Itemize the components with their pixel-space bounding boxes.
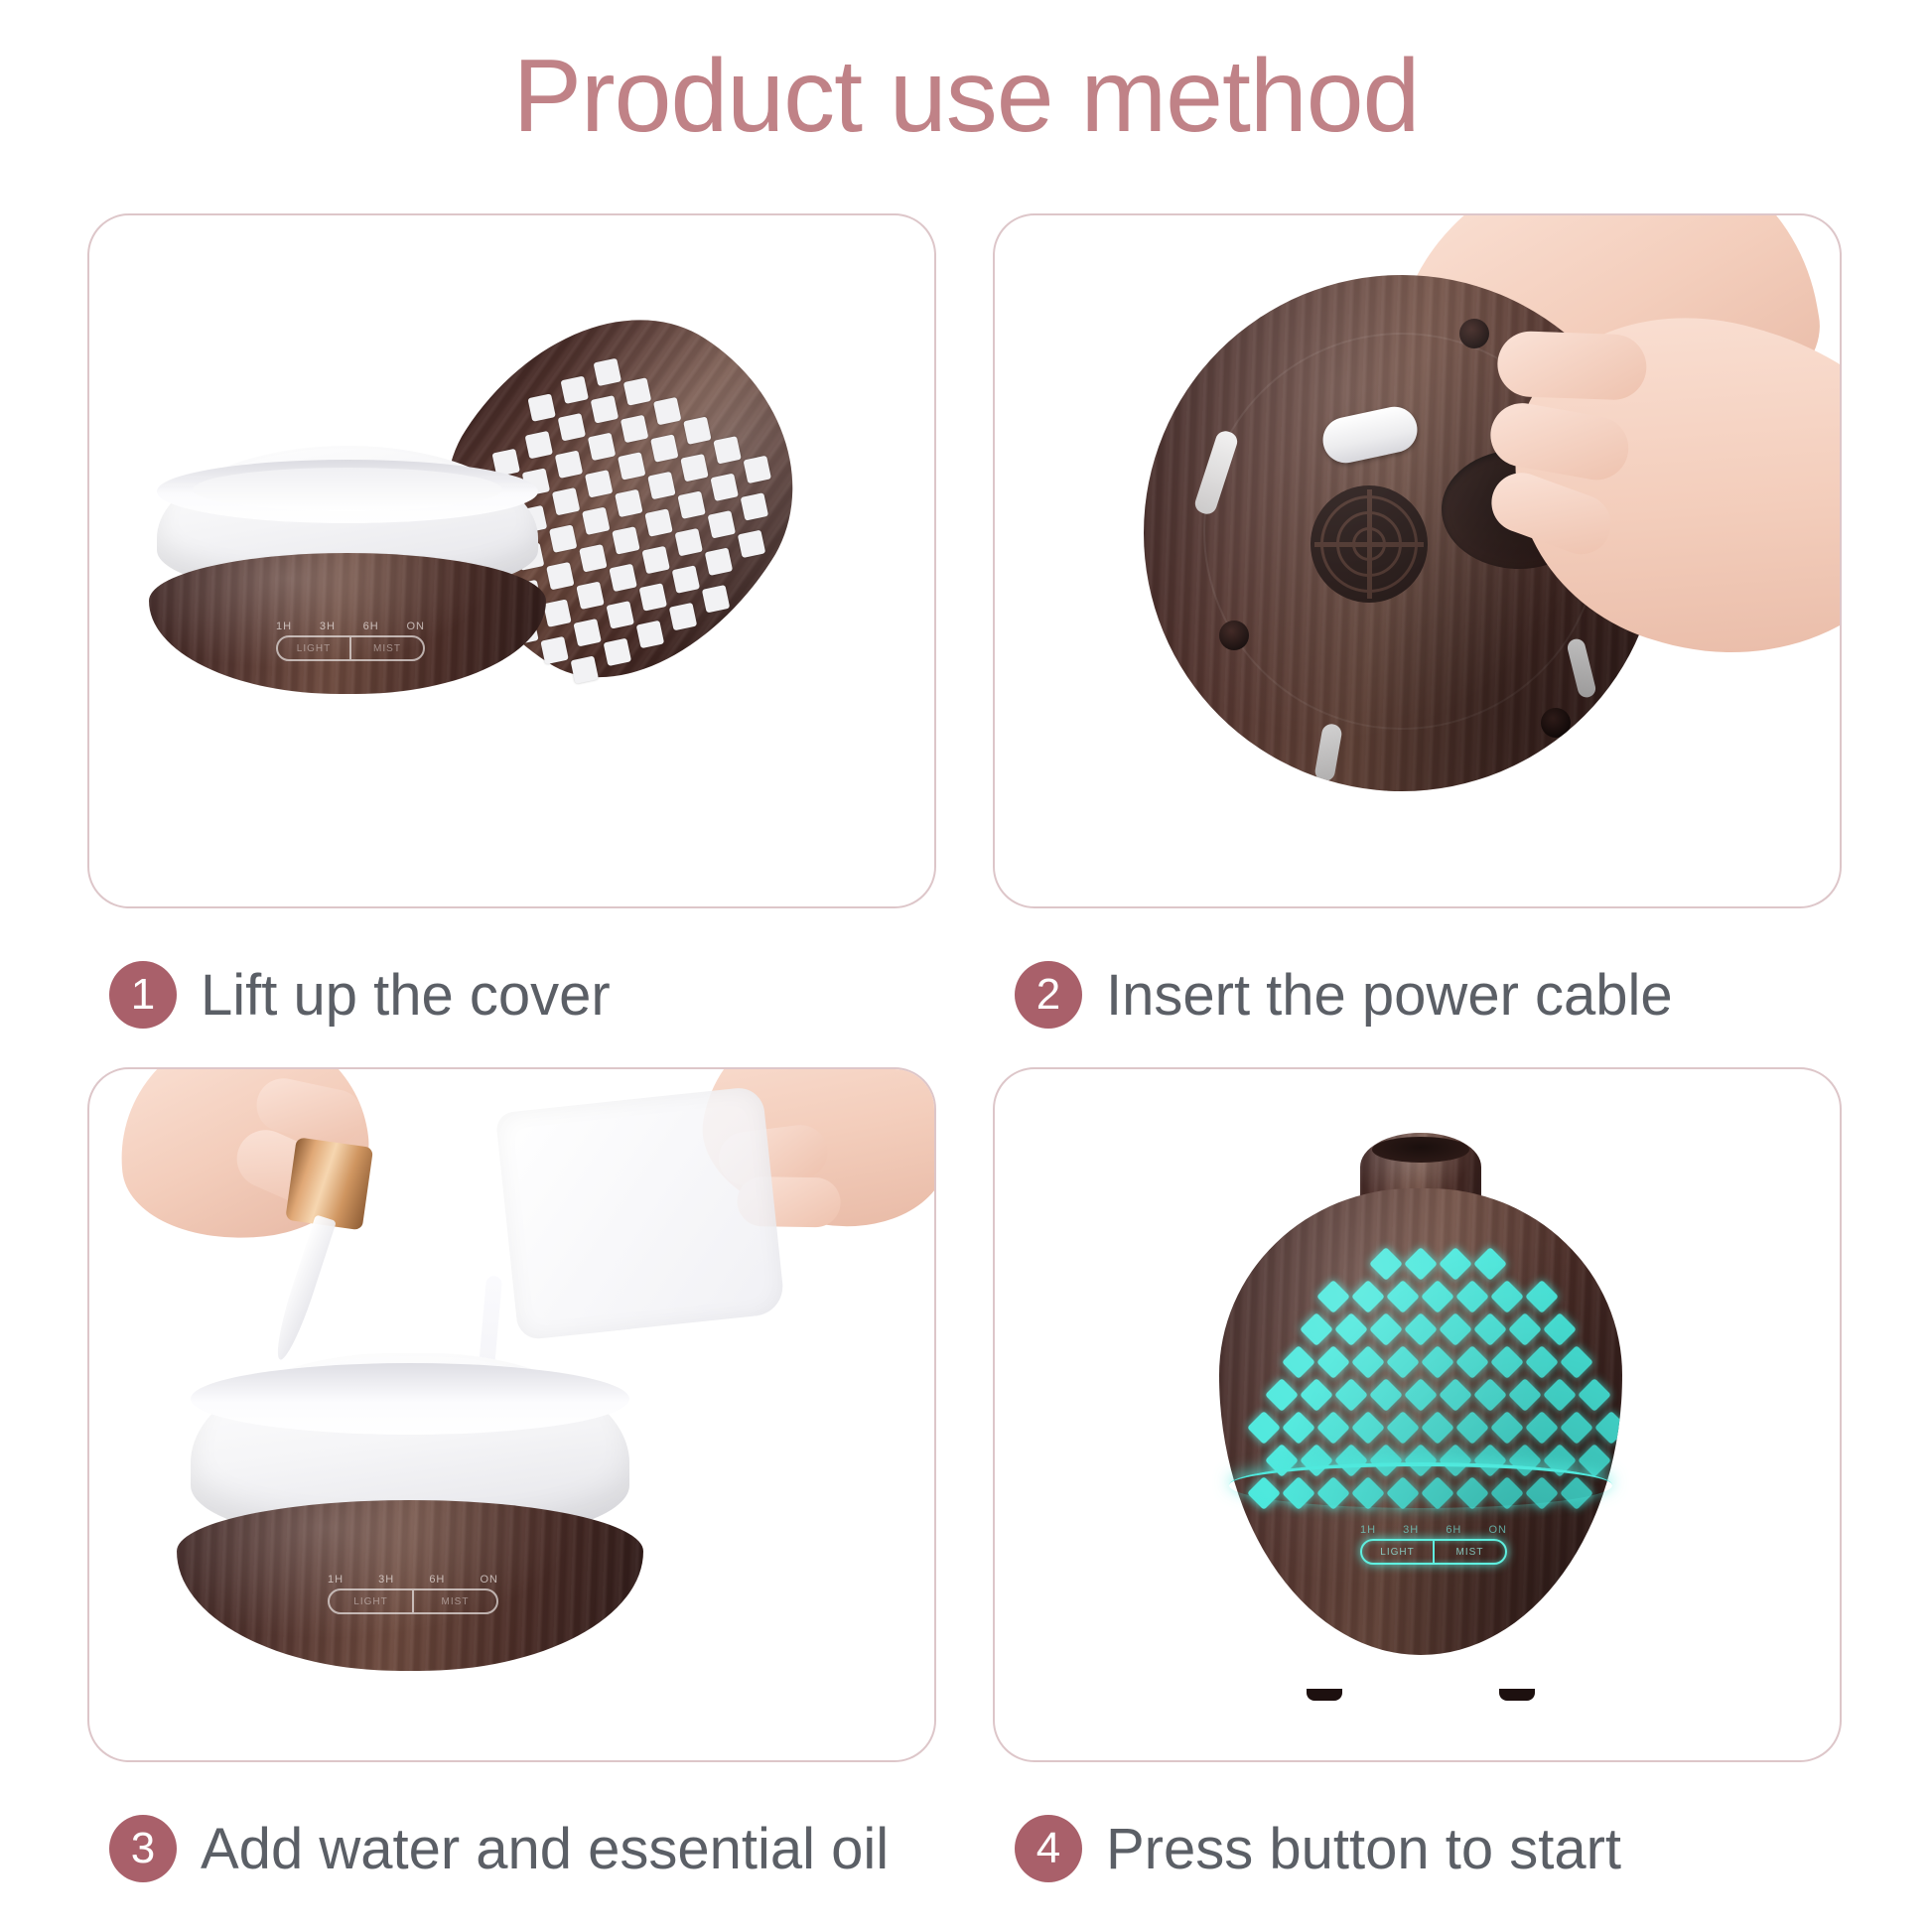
step-1: 1H 3H 6H ON LIGHT MIST 1 Lift up the cov bbox=[87, 213, 936, 1039]
cutout-diamond bbox=[1386, 1411, 1420, 1445]
cutout-diamond bbox=[606, 601, 633, 628]
timer-labels: 1H 3H 6H ON bbox=[276, 621, 425, 632]
cutout-diamond bbox=[558, 413, 586, 441]
step-3-caption: 3 Add water and essential oil bbox=[87, 1804, 936, 1893]
timer-label-1h: 1H bbox=[328, 1574, 344, 1586]
cutout-diamond bbox=[1351, 1345, 1385, 1379]
mist-button[interactable]: MIST bbox=[1433, 1541, 1505, 1563]
cutout-diamond bbox=[546, 562, 574, 590]
dropper-glass-tube bbox=[270, 1214, 337, 1362]
panel-buttons: LIGHT MIST bbox=[328, 1588, 498, 1614]
cutout-diamond bbox=[1490, 1345, 1524, 1379]
cutout-diamond bbox=[1351, 1280, 1385, 1313]
light-button[interactable]: LIGHT bbox=[330, 1590, 412, 1612]
step-3-caption-text: Add water and essential oil bbox=[201, 1816, 889, 1882]
step-4-caption-text: Press button to start bbox=[1106, 1816, 1621, 1882]
rubber-foot bbox=[1192, 429, 1239, 517]
cutout-diamond bbox=[1404, 1247, 1438, 1281]
mist-button[interactable]: MIST bbox=[349, 637, 423, 659]
rubber-foot bbox=[1566, 637, 1597, 700]
cutout-diamond bbox=[623, 377, 651, 405]
cutout-diamond bbox=[1508, 1378, 1542, 1412]
cutout-diamond bbox=[680, 454, 708, 482]
cutout-diamond bbox=[609, 564, 636, 592]
cutout-diamond bbox=[585, 470, 613, 497]
cutout-diamond bbox=[555, 450, 583, 478]
cutout-diamond bbox=[1247, 1411, 1281, 1445]
base-foot bbox=[477, 686, 510, 694]
cutout-diamond bbox=[1508, 1312, 1542, 1346]
step-2: 2 Insert the power cable bbox=[993, 213, 1842, 1039]
cutout-diamond bbox=[677, 490, 705, 518]
water-pitcher bbox=[495, 1086, 786, 1341]
step-2-image-card bbox=[993, 213, 1842, 908]
cutout-diamond bbox=[1439, 1247, 1472, 1281]
cutout-diamond bbox=[549, 524, 577, 552]
diffuser-base-unit: 1H 3H 6H ON LIGHT MIST bbox=[149, 446, 546, 694]
cutout-diamond bbox=[1439, 1312, 1472, 1346]
cutout-diamond bbox=[1404, 1378, 1438, 1412]
cutout-diamond bbox=[708, 510, 736, 538]
timer-label-6h: 6H bbox=[363, 621, 379, 632]
cutout-diamond bbox=[1386, 1280, 1420, 1313]
cutout-diamond bbox=[527, 393, 555, 421]
cutout-diamond bbox=[669, 603, 697, 630]
cutout-diamond bbox=[650, 434, 678, 462]
control-panel[interactable]: 1H 3H 6H ON LIGHT MIST bbox=[328, 1574, 498, 1614]
cutout-diamond bbox=[615, 489, 642, 517]
cutout-diamond bbox=[636, 621, 664, 648]
timer-labels: 1H 3H 6H ON bbox=[1360, 1524, 1507, 1536]
cutout-diamond bbox=[576, 582, 604, 610]
cutout-diamond bbox=[1473, 1312, 1507, 1346]
cutout-diamond bbox=[639, 583, 667, 611]
cutout-diamond bbox=[1525, 1280, 1559, 1313]
cutout-diamond bbox=[675, 528, 703, 556]
light-button[interactable]: LIGHT bbox=[1362, 1541, 1433, 1563]
cutout-diamond bbox=[710, 474, 738, 501]
screw bbox=[1541, 708, 1571, 738]
panel-buttons: LIGHT MIST bbox=[276, 635, 425, 661]
white-top-rim bbox=[191, 1363, 629, 1435]
timer-label-on: ON bbox=[406, 621, 425, 632]
step-2-caption: 2 Insert the power cable bbox=[993, 950, 1842, 1039]
diffuser-base-unit: 1H 3H 6H ON LIGHT MIST bbox=[177, 1353, 643, 1681]
cutout-diamond bbox=[1455, 1280, 1489, 1313]
glowing-cutout-pattern bbox=[1219, 1188, 1622, 1655]
cutout-diamond bbox=[1439, 1378, 1472, 1412]
cutout-diamond bbox=[1316, 1345, 1350, 1379]
cutout-diamond bbox=[744, 456, 771, 483]
cutout-diamond bbox=[560, 376, 588, 404]
cutout-diamond bbox=[1578, 1378, 1611, 1412]
cutout-diamond bbox=[591, 395, 619, 423]
cutout-diamond bbox=[1560, 1411, 1593, 1445]
cutout-diamond bbox=[1594, 1411, 1622, 1445]
cutout-diamond bbox=[1334, 1312, 1368, 1346]
cutout-diamond bbox=[582, 507, 610, 535]
cutout-diamond bbox=[683, 416, 711, 444]
rubber-foot bbox=[1313, 723, 1343, 783]
timer-label-3h: 3H bbox=[378, 1574, 394, 1586]
timer-labels: 1H 3H 6H ON bbox=[328, 1574, 498, 1586]
cutout-diamond bbox=[571, 655, 599, 683]
cutout-diamond bbox=[1473, 1247, 1507, 1281]
cutout-diamond bbox=[1421, 1411, 1454, 1445]
cutout-diamond bbox=[1265, 1378, 1299, 1412]
base-foot bbox=[554, 1663, 588, 1671]
cutout-diamond bbox=[1369, 1378, 1403, 1412]
cutout-diamond bbox=[644, 508, 672, 536]
base-foot bbox=[234, 1663, 268, 1671]
cutout-diamond bbox=[1421, 1345, 1454, 1379]
light-button[interactable]: LIGHT bbox=[278, 637, 349, 659]
step-3-image-card: 1H 3H 6H ON LIGHT MIST bbox=[87, 1067, 936, 1762]
cutout-diamond bbox=[1351, 1411, 1385, 1445]
cutout-diamond bbox=[741, 492, 768, 520]
cutout-diamond bbox=[1421, 1280, 1454, 1313]
cutout-diamond bbox=[713, 436, 741, 464]
control-panel[interactable]: 1H 3H 6H ON LIGHT MIST bbox=[276, 621, 425, 661]
dropper-gold-cap bbox=[285, 1137, 373, 1230]
cutout-diamond bbox=[1455, 1345, 1489, 1379]
cutout-diamond bbox=[552, 487, 580, 515]
cutout-diamond bbox=[672, 565, 700, 593]
step-4-caption: 4 Press button to start bbox=[993, 1804, 1842, 1893]
step-1-caption-text: Lift up the cover bbox=[201, 962, 611, 1029]
cutout-diamond bbox=[543, 599, 571, 626]
assembled-diffuser: 1H 3H 6H ON LIGHT MIST bbox=[1211, 1133, 1628, 1699]
timer-label-3h: 3H bbox=[1403, 1524, 1419, 1536]
step-1-caption: 1 Lift up the cover bbox=[87, 950, 936, 1039]
steps-grid: 1H 3H 6H ON LIGHT MIST 1 Lift up the cov bbox=[0, 213, 1932, 1901]
step-4: 1H 3H 6H ON LIGHT MIST 4 bbox=[993, 1067, 1842, 1893]
cutout-diamond bbox=[573, 619, 601, 646]
timer-label-3h: 3H bbox=[320, 621, 336, 632]
index-finger bbox=[1496, 331, 1647, 401]
timer-label-6h: 6H bbox=[429, 1574, 445, 1586]
infographic-page: Product use method bbox=[0, 0, 1932, 1932]
led-glow-band bbox=[1229, 1462, 1612, 1508]
cutout-diamond bbox=[647, 472, 675, 499]
cutout-diamond bbox=[594, 358, 621, 386]
step-1-number-badge: 1 bbox=[109, 961, 177, 1029]
cutout-diamond bbox=[1282, 1411, 1315, 1445]
screw bbox=[1459, 319, 1489, 348]
cutout-diamond bbox=[641, 546, 669, 574]
timer-label-1h: 1H bbox=[276, 621, 292, 632]
cutout-diamond bbox=[1490, 1280, 1524, 1313]
step-2-caption-text: Insert the power cable bbox=[1106, 962, 1673, 1029]
fan-vent-icon bbox=[1311, 485, 1428, 603]
cutout-diamond bbox=[1560, 1345, 1593, 1379]
screw bbox=[1219, 621, 1249, 650]
cutout-diamond bbox=[604, 638, 631, 666]
mist-outlet bbox=[1372, 1137, 1469, 1163]
base-foot bbox=[1307, 1689, 1342, 1701]
timer-label-6h: 6H bbox=[1446, 1524, 1461, 1536]
base-foot bbox=[1499, 1689, 1535, 1701]
step-1-image-card: 1H 3H 6H ON LIGHT MIST bbox=[87, 213, 936, 908]
cutout-diamond bbox=[1300, 1378, 1333, 1412]
cutout-diamond bbox=[1282, 1345, 1315, 1379]
base-foot bbox=[193, 686, 226, 694]
cutout-diamond bbox=[579, 544, 607, 572]
step-2-number-badge: 2 bbox=[1015, 961, 1082, 1029]
cutout-diamond bbox=[1543, 1378, 1577, 1412]
step-4-image-card: 1H 3H 6H ON LIGHT MIST bbox=[993, 1067, 1842, 1762]
cutout-diamond bbox=[1473, 1378, 1507, 1412]
timer-label-1h: 1H bbox=[1360, 1524, 1376, 1536]
cutout-diamond bbox=[621, 415, 648, 443]
mist-button[interactable]: MIST bbox=[412, 1590, 496, 1612]
cutout-diamond bbox=[702, 585, 730, 613]
cutout-diamond bbox=[1525, 1411, 1559, 1445]
control-panel[interactable]: 1H 3H 6H ON LIGHT MIST bbox=[1360, 1524, 1507, 1565]
step-3-number-badge: 3 bbox=[109, 1815, 177, 1882]
cutout-diamond bbox=[705, 548, 733, 576]
cutout-diamond bbox=[1369, 1247, 1403, 1281]
cutout-diamond bbox=[1316, 1280, 1350, 1313]
cutout-diamond bbox=[653, 397, 681, 425]
step-3: 1H 3H 6H ON LIGHT MIST 3 Add water and e bbox=[87, 1067, 936, 1893]
cutout-diamond bbox=[1543, 1312, 1577, 1346]
cutout-diamond bbox=[738, 530, 765, 558]
cutout-diamond bbox=[1369, 1312, 1403, 1346]
cutout-diamond bbox=[1300, 1312, 1333, 1346]
cutout-diamond bbox=[1455, 1411, 1489, 1445]
cutout-diamond bbox=[1316, 1411, 1350, 1445]
page-title: Product use method bbox=[0, 38, 1932, 156]
timer-label-on: ON bbox=[480, 1574, 498, 1586]
cutout-diamond bbox=[1404, 1312, 1438, 1346]
cutout-diamond bbox=[1490, 1411, 1524, 1445]
cutout-diamond bbox=[588, 433, 616, 461]
panel-buttons: LIGHT MIST bbox=[1360, 1539, 1507, 1565]
cutout-diamond bbox=[1525, 1345, 1559, 1379]
cutout-diamond bbox=[612, 526, 639, 554]
diffuser-body bbox=[1219, 1188, 1622, 1655]
diffuser-underside-scene bbox=[995, 215, 1842, 908]
step-4-number-badge: 4 bbox=[1015, 1815, 1082, 1882]
cutout-diamond bbox=[618, 452, 645, 480]
cutout-diamond bbox=[1386, 1345, 1420, 1379]
white-top-inner-rim bbox=[193, 468, 502, 511]
cutout-diamond bbox=[1334, 1378, 1368, 1412]
timer-label-on: ON bbox=[1488, 1524, 1507, 1536]
